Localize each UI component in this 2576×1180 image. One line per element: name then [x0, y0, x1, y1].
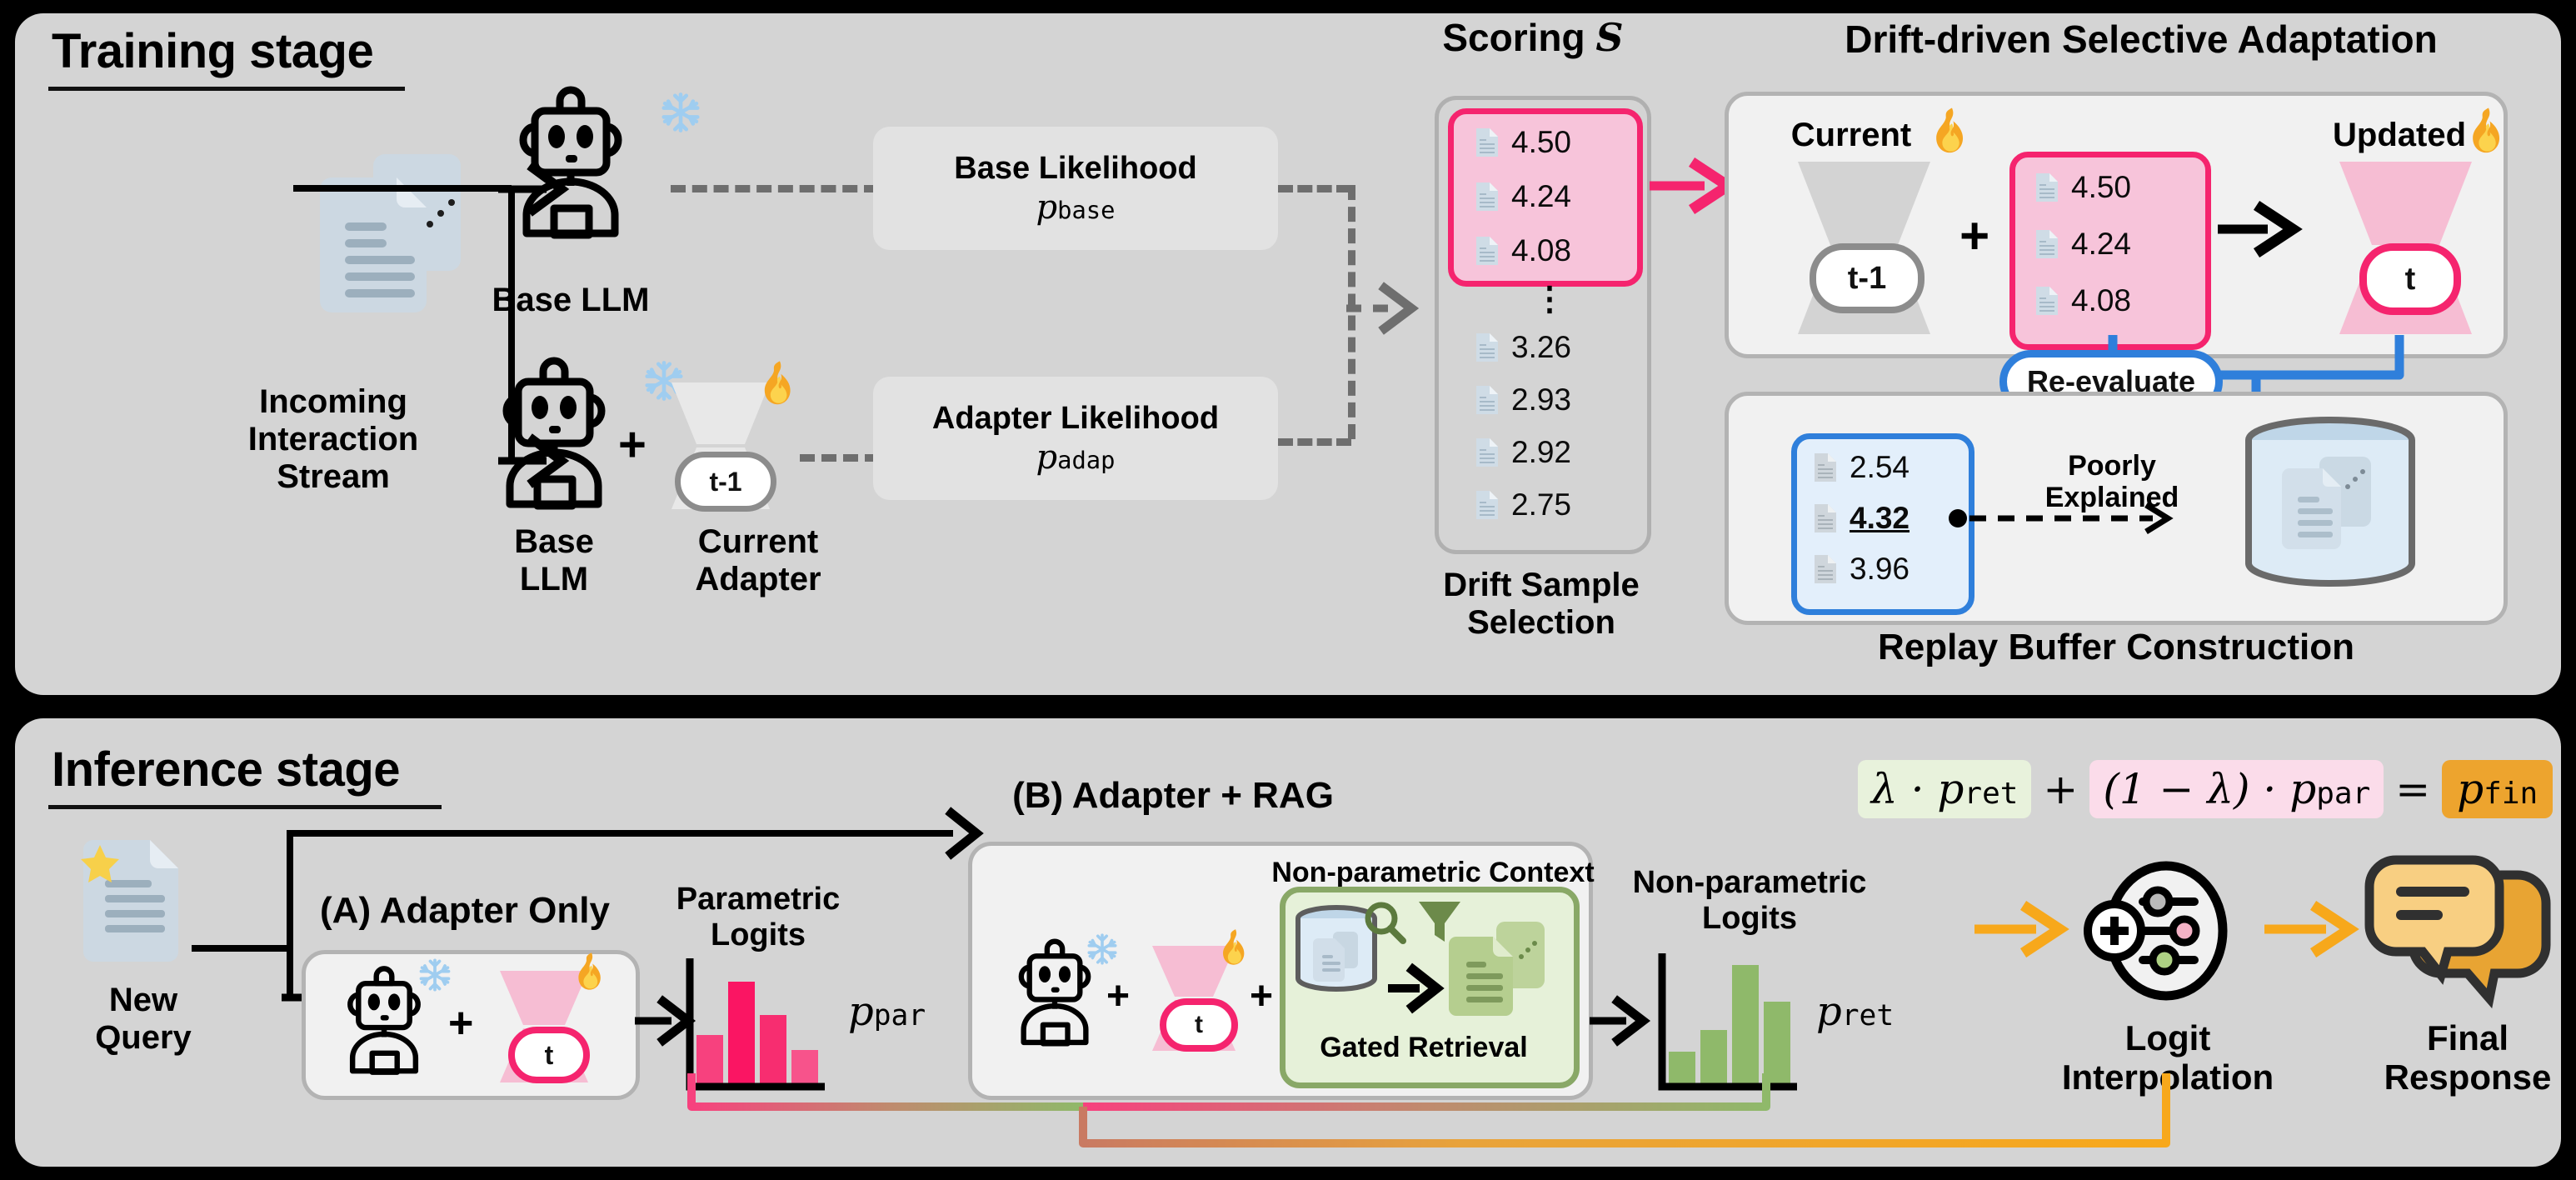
training-title-underline — [48, 87, 405, 91]
poorly-explained-arrow — [1946, 498, 2188, 538]
inference-title-underline — [48, 805, 442, 809]
new-query-document-icon — [75, 833, 208, 967]
branch-a-adapter-tag: t — [508, 1027, 590, 1083]
document-icon — [1813, 502, 1838, 534]
fire-icon — [1931, 107, 1973, 155]
new-query-label: New Query — [52, 982, 235, 1057]
score-row: 4.08 — [2034, 283, 2131, 318]
score-row: 4.50 — [2034, 170, 2131, 205]
scoring-title-text: Scoring — [1442, 16, 1585, 59]
replay-buffer-caption: Replay Buffer Construction — [1816, 627, 2416, 667]
incoming-stream-label: Incoming Interaction Stream — [208, 383, 458, 495]
score-row: 4.08 — [1475, 233, 1571, 268]
score-row: 2.92 — [1475, 435, 1571, 470]
score-value: 4.50 — [1511, 125, 1571, 160]
snowflake-icon — [1085, 932, 1120, 967]
branch-a-title: (A) Adapter Only — [290, 890, 640, 931]
score-row: 2.75 — [1475, 487, 1571, 522]
base-llm-top-label: Base LLM — [450, 282, 691, 319]
plus-sign-adaptation: + — [1959, 207, 1989, 266]
score-row: 4.50 — [1475, 125, 1571, 160]
updated-model-tag: t — [2359, 243, 2461, 315]
nonparametric-logits-label: Non-parametric Logits — [1591, 865, 1908, 936]
formula-term-retrieval: λ · pret — [1858, 760, 2031, 818]
scoring-symbol: S — [1595, 15, 1623, 60]
base-likelihood-subscript: base — [1057, 196, 1115, 224]
fire-icon — [2468, 107, 2509, 155]
document-icon — [1475, 489, 1500, 521]
document-icon — [1475, 332, 1500, 363]
document-icon — [1475, 384, 1500, 416]
score-value: 4.08 — [2071, 283, 2131, 318]
dashed-base-to-likelihood — [671, 185, 879, 192]
fire-icon — [575, 952, 608, 992]
arrow-orange-to-interpolation — [1973, 902, 2081, 957]
query-branch-stub — [192, 945, 292, 952]
dashed-merge-top — [1278, 185, 1351, 192]
parametric-logits-label: Parametric Logits — [642, 882, 875, 952]
formula-result-sub: fin — [2484, 777, 2538, 811]
score-row: 2.93 — [1475, 382, 1571, 417]
branch-b-title: (B) Adapter + RAG — [965, 775, 1381, 816]
score-value: 2.92 — [1511, 435, 1571, 470]
score-row: 2.54 — [1813, 450, 1910, 485]
final-response-chat-icon — [2364, 852, 2556, 1002]
document-icon — [1475, 235, 1500, 267]
current-model-tag: t-1 — [1810, 243, 1925, 313]
adapter-likelihood-box: Adapter Likelihood padap — [873, 377, 1278, 500]
dashed-merge-bottom — [1278, 438, 1351, 446]
score-value-highlighted: 4.32 — [1850, 501, 1910, 536]
document-icon — [2034, 228, 2059, 260]
parametric-symbol: ppar — [848, 988, 926, 1035]
document-icon — [1475, 181, 1500, 212]
fire-icon — [1220, 928, 1251, 967]
base-likelihood-symbol: p — [1036, 188, 1058, 227]
plus-sign-b-2: + — [1250, 973, 1273, 1019]
document-icon — [2034, 285, 2059, 317]
formula-term1-sub: ret — [1964, 777, 2018, 811]
current-adapter-label: Current Adapter — [658, 523, 858, 598]
formula-term1: λ · p — [1871, 765, 1964, 813]
nonparametric-symbol: pret — [1816, 988, 1894, 1035]
adapter-likelihood-subscript: adap — [1057, 446, 1115, 474]
score-value: 4.24 — [2071, 227, 2131, 262]
current-model-label: Current — [1760, 117, 1943, 154]
logit-interpolation-icon — [2083, 860, 2241, 1002]
query-to-rag-line — [287, 830, 953, 837]
inference-stage-title: Inference stage — [52, 742, 400, 797]
arrow-to-updated-model — [2216, 202, 2308, 257]
score-value: 2.54 — [1850, 450, 1910, 485]
base-likelihood-box: Base Likelihood pbase — [873, 127, 1278, 250]
score-row: 3.96 — [1813, 552, 1910, 587]
score-value: 2.93 — [1511, 382, 1571, 417]
score-row: 4.32 — [1813, 501, 1910, 536]
score-value: 4.50 — [2071, 170, 2131, 205]
document-icon — [1813, 553, 1838, 585]
formula-equals: = — [2395, 765, 2430, 813]
retrieval-arrow — [1386, 965, 1446, 1012]
arrow-b-to-nonparametric — [1588, 997, 1655, 1045]
logit-feed-connectors — [658, 1073, 2183, 1180]
formula-term2-sub: par — [2316, 777, 2370, 811]
branch-b-adapter-tag: t — [1160, 998, 1238, 1052]
retrieved-documents-icon — [1450, 917, 1555, 1022]
formula-term2: (1 − λ) · p — [2103, 765, 2316, 813]
document-icon — [1475, 127, 1500, 158]
score-value: 4.08 — [1511, 233, 1571, 268]
training-stage-title: Training stage — [52, 23, 373, 79]
dashed-adapter-to-likelihood — [800, 454, 880, 462]
score-ellipsis: ⋮ — [1533, 280, 1566, 318]
drift-sample-selection-caption: Drift Sample Selection — [1416, 567, 1666, 642]
p-par-subscript: par — [874, 999, 926, 1032]
interpolation-formula: λ · pret + (1 − λ) · ppar = pfin — [1858, 760, 2553, 818]
document-icon — [1475, 437, 1500, 468]
formula-term-parametric: (1 − λ) · ppar — [2089, 760, 2384, 818]
score-value: 2.75 — [1511, 487, 1571, 522]
base-llm-top-robot-icon — [483, 83, 658, 242]
score-value: 3.26 — [1511, 330, 1571, 365]
replay-buffer-database-icon — [2226, 417, 2434, 587]
formula-result-symbol: p — [2457, 765, 2484, 813]
arrow-orange-to-response — [2263, 902, 2371, 957]
score-row: 3.26 — [1475, 330, 1571, 365]
formula-plus: + — [2043, 765, 2078, 813]
score-value: 3.96 — [1850, 552, 1910, 587]
p-par-symbol: p — [848, 988, 874, 1035]
adapter-likelihood-symbol: p — [1036, 438, 1058, 477]
search-icon — [1361, 900, 1411, 950]
plus-sign-base-adapter: + — [618, 417, 646, 472]
score-value: 4.24 — [1511, 179, 1571, 214]
formula-result: pfin — [2442, 760, 2553, 818]
current-adapter-tag: t-1 — [675, 452, 776, 512]
score-row: 4.24 — [2034, 227, 2131, 262]
gated-retrieval-label: Gated Retrieval — [1290, 1032, 1558, 1063]
scoring-title: Scoring S — [1400, 17, 1666, 60]
adapter-likelihood-title: Adapter Likelihood — [932, 401, 1219, 437]
final-response-label: Final Response — [2343, 1018, 2576, 1097]
p-ret-subscript: ret — [1842, 999, 1894, 1032]
document-icon — [2034, 172, 2059, 203]
score-row: 4.24 — [1475, 179, 1571, 214]
snowflake-icon — [658, 90, 703, 135]
plus-sign-b-1: + — [1106, 973, 1130, 1019]
branch-top-line — [293, 185, 512, 192]
arrow-to-scoring — [1345, 283, 1425, 333]
base-llm-bottom-label: Base LLM — [450, 523, 658, 598]
base-likelihood-title: Base Likelihood — [954, 151, 1196, 187]
nonparametric-context-label: Non-parametric Context — [1266, 857, 1600, 888]
plus-sign-branch-a: + — [448, 998, 473, 1048]
snowflake-icon — [417, 957, 453, 993]
fire-icon — [760, 360, 800, 407]
p-ret-symbol: p — [1816, 988, 1842, 1035]
adaptation-title: Drift-driven Selective Adaptation — [1750, 18, 2533, 62]
base-llm-bottom-robot-icon — [467, 354, 642, 512]
document-icon — [1813, 452, 1838, 483]
